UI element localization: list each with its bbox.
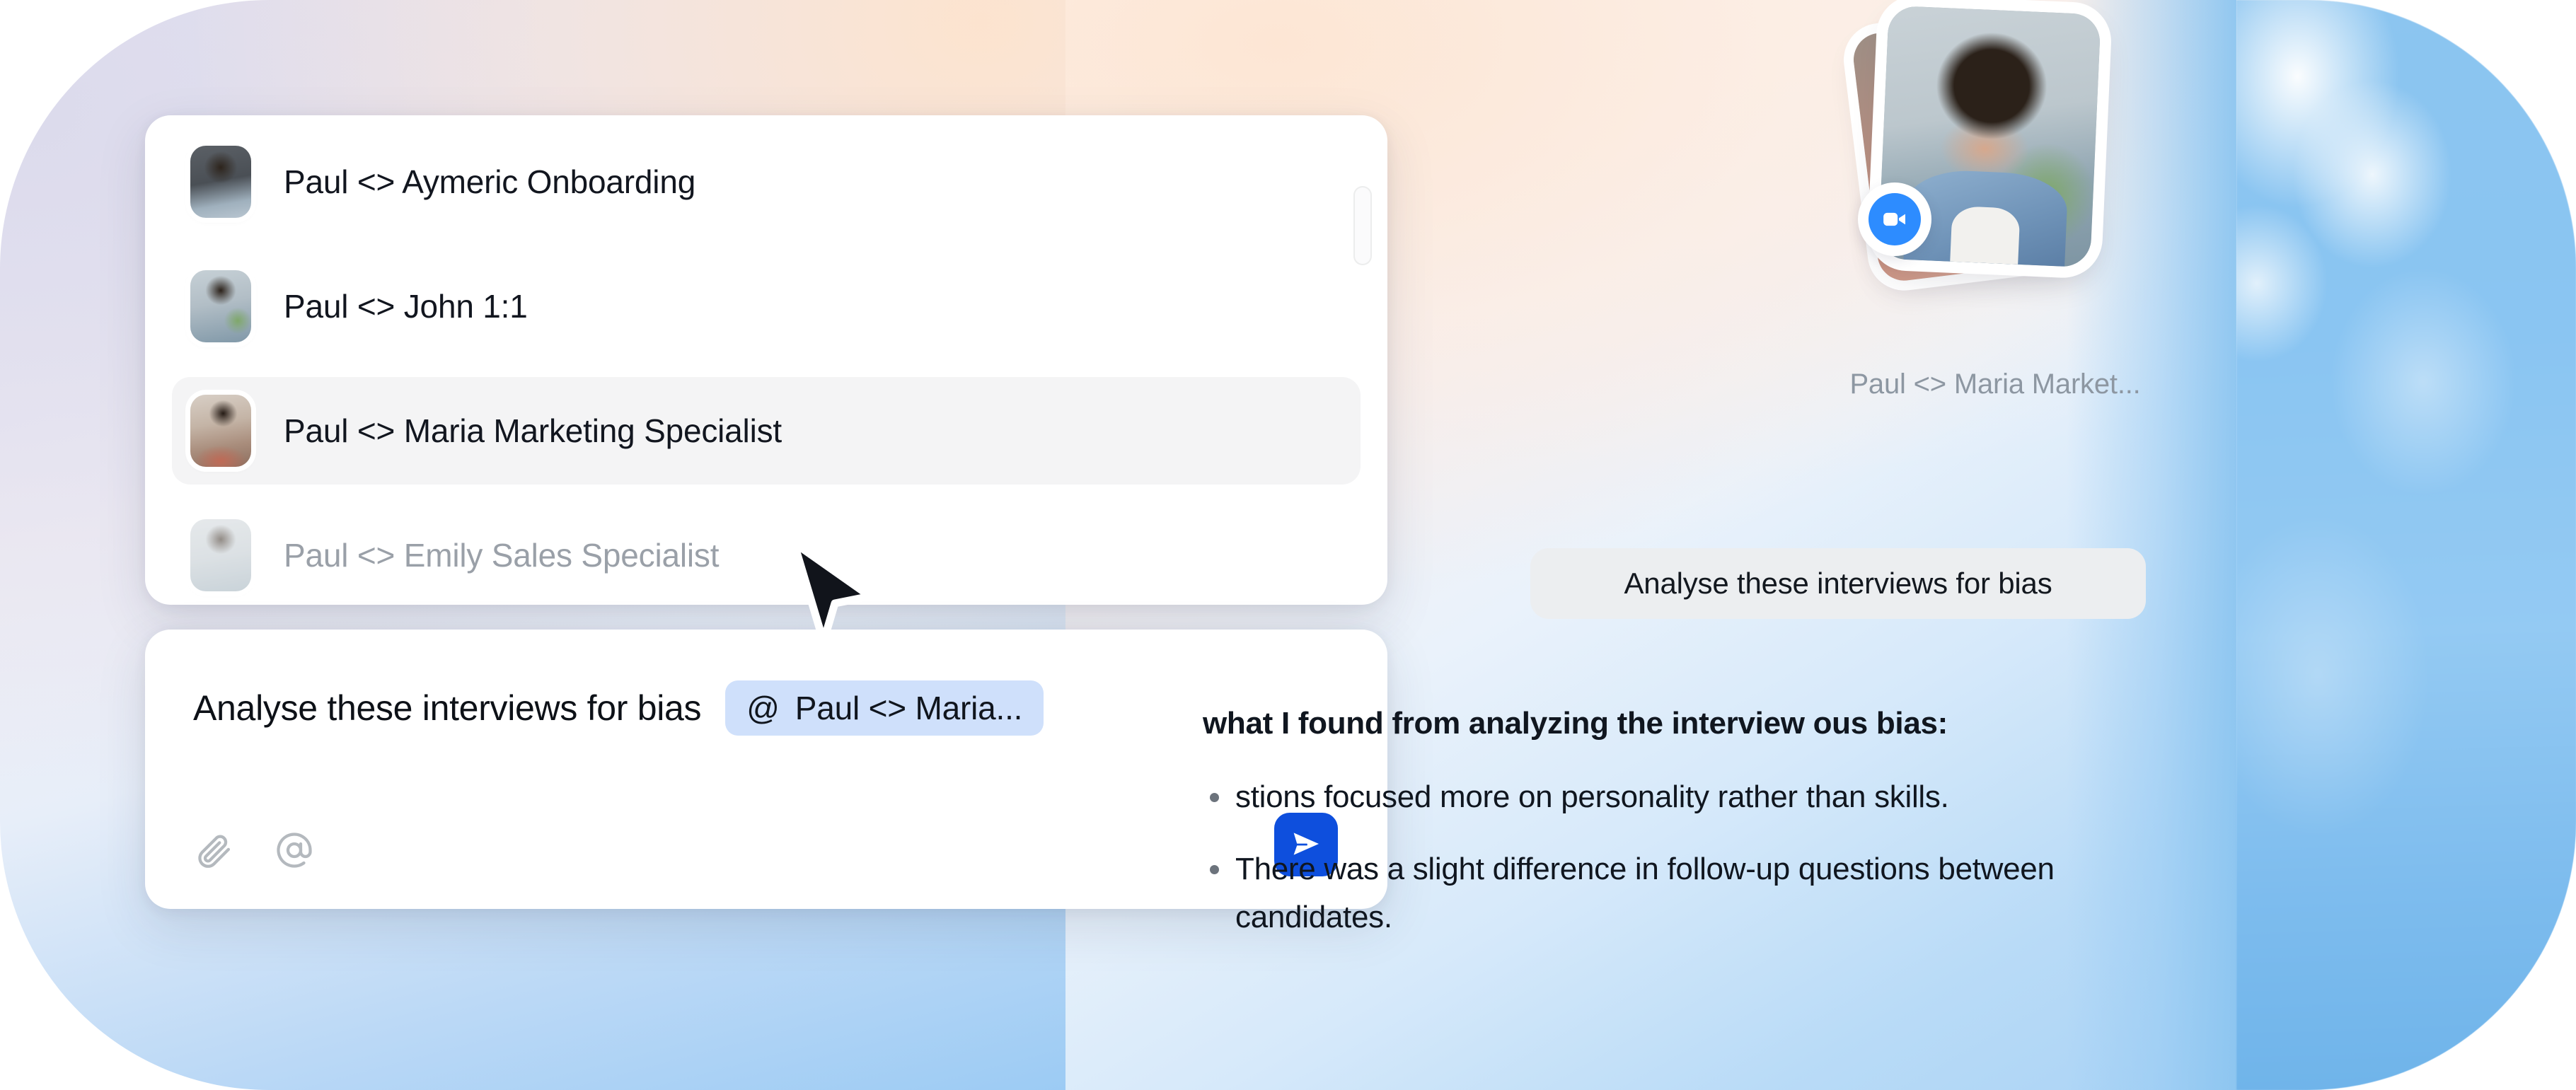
mention-item-1[interactable]: Paul <> John 1:1	[172, 253, 1361, 360]
mention-item-label: Paul <> John 1:1	[284, 287, 528, 325]
zoom-video-icon	[1858, 182, 1931, 256]
paperclip-icon[interactable]	[196, 831, 234, 869]
assistant-bullet-list: stions focused more on personality rathe…	[1203, 773, 2165, 942]
user-message-bubble: Analyse these interviews for bias	[1530, 548, 2146, 619]
woman-avatar	[190, 395, 251, 467]
message-composer[interactable]: Analyse these interviews for bias @ Paul…	[145, 630, 1387, 909]
mention-chip[interactable]: @ Paul <> Maria...	[725, 680, 1044, 736]
assistant-message: what I found from analyzing the intervie…	[1203, 700, 2165, 966]
at-icon[interactable]	[275, 831, 313, 869]
mention-chip-label: Paul <> Maria...	[795, 689, 1023, 727]
mention-suggestions-dropdown[interactable]: Paul <> Aymeric Onboarding Paul <> John …	[145, 115, 1387, 605]
mention-suggestions-list[interactable]: Paul <> Aymeric Onboarding Paul <> John …	[145, 115, 1387, 605]
mention-item-3[interactable]: Paul <> Emily Sales Specialist	[172, 501, 1361, 605]
mention-item-2[interactable]: Paul <> Maria Marketing Specialist	[172, 377, 1361, 485]
list-item: stions focused more on personality rathe…	[1203, 773, 2165, 821]
composer-input[interactable]: Analyse these interviews for bias	[193, 688, 701, 729]
vertical-scrollbar[interactable]	[1353, 186, 1372, 265]
mention-item-label: Paul <> Aymeric Onboarding	[284, 163, 695, 201]
list-item: There was a slight difference in follow-…	[1203, 845, 2165, 941]
at-symbol: @	[746, 689, 780, 727]
composer-input-row[interactable]: Analyse these interviews for bias @ Paul…	[193, 678, 1345, 738]
mention-item-label: Paul <> Maria Marketing Specialist	[284, 412, 782, 450]
man-bookshelf-avatar	[190, 146, 251, 218]
video-preview-caption: Paul <> Maria Market...	[1847, 362, 2144, 406]
sky-backdrop-image	[2236, 0, 2576, 1090]
app-canvas: Paul <> Aymeric Onboarding Paul <> John …	[0, 0, 2576, 1090]
mention-item-0[interactable]: Paul <> Aymeric Onboarding	[172, 128, 1361, 236]
assistant-heading: what I found from analyzing the intervie…	[1203, 700, 2165, 748]
man-glasses-avatar-2	[190, 519, 251, 591]
man-glasses-avatar	[190, 270, 251, 342]
video-preview-card[interactable]	[1873, 4, 2114, 287]
mention-item-label: Paul <> Emily Sales Specialist	[284, 536, 719, 574]
user-message-text: Analyse these interviews for bias	[1624, 567, 2052, 601]
composer-toolbar[interactable]	[196, 831, 313, 869]
